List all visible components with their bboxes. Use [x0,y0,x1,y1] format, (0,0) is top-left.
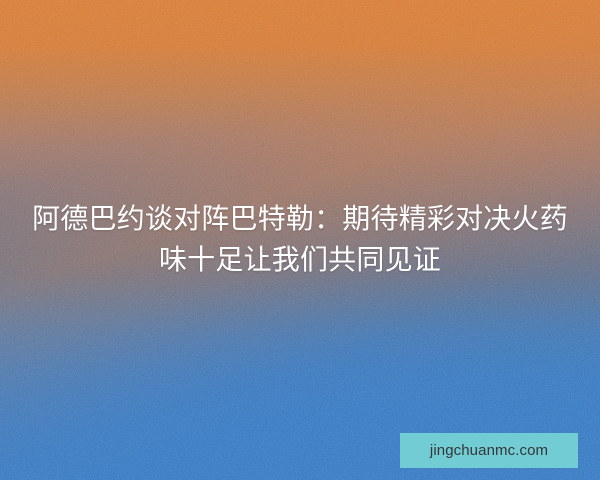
watermark-label: jingchuanmc.com [430,442,548,459]
image-canvas: 阿德巴约谈对阵巴特勒：期待精彩对决火药味十足让我们共同见证 jingchuanm… [0,0,600,480]
page-title: 阿德巴约谈对阵巴特勒：期待精彩对决火药味十足让我们共同见证 [0,198,600,280]
watermark-badge: jingchuanmc.com [400,433,578,468]
